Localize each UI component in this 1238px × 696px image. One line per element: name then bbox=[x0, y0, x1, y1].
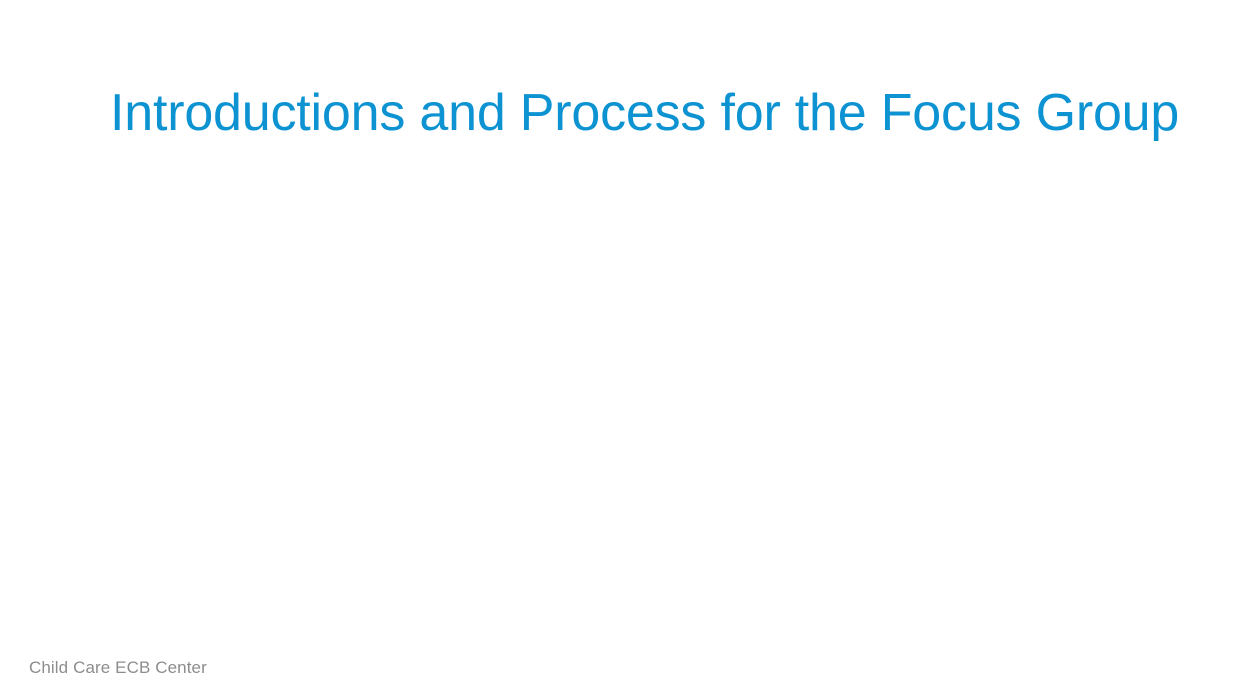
page-title: Introductions and Process for the Focus … bbox=[110, 83, 1130, 144]
slide-footer-label: Child Care ECB Center bbox=[29, 658, 207, 678]
presentation-slide: Introductions and Process for the Focus … bbox=[0, 0, 1238, 696]
slide-content-area bbox=[110, 150, 1130, 610]
